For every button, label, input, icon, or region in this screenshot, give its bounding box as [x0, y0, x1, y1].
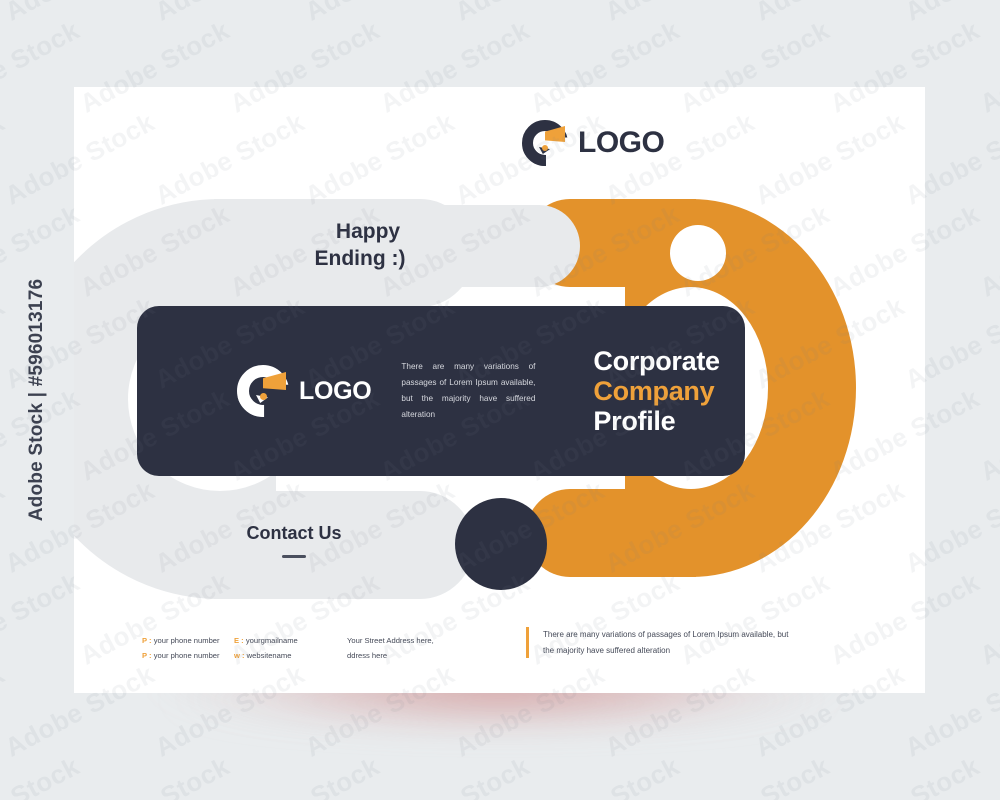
footer-row: P : your phone number — [142, 633, 220, 648]
dark-content-card: LOGO There are many variations of passag… — [137, 306, 745, 476]
adobe-stock-id-text: Adobe Stock | #596013176 — [26, 279, 48, 521]
dark-card-logo-text: LOGO — [299, 377, 371, 406]
header-logo-text: LOGO — [578, 126, 664, 160]
contact-us-heading: Contact Us — [226, 523, 362, 544]
watermark-text: Adobe Stock — [750, 0, 910, 27]
footer-address-column: Your Street Address here, ddress here — [347, 633, 434, 663]
happy-ending-pill: Happy Ending :) — [220, 205, 580, 287]
watermark-text: Adobe Stock — [150, 0, 310, 27]
happy-ending-line-2: Ending :) — [315, 246, 406, 273]
orange-c-notch-cutout — [670, 225, 726, 281]
footer-address-line-1: Your Street Address here, — [347, 633, 434, 648]
dark-card-logo-lockup[interactable]: LOGO — [237, 365, 371, 417]
watermark-text: Adobe Stock — [975, 383, 1000, 488]
watermark-text: Adobe Stock — [975, 751, 1000, 800]
footer-row: w : websitename — [234, 648, 298, 663]
footer-value: your phone number — [154, 651, 220, 660]
footer-phone-column: P : your phone number P : your phone num… — [142, 633, 220, 663]
contact-us-underline — [282, 555, 306, 558]
title-line-company: Company — [593, 376, 719, 406]
footer-address-line-2: ddress here — [347, 648, 434, 663]
footer-value: websitename — [247, 651, 292, 660]
happy-ending-line-1: Happy — [320, 219, 400, 246]
footer-value: yourgmailname — [246, 636, 298, 645]
header-logo-lockup[interactable]: LOGO — [522, 120, 664, 166]
footer-row: E : yourgmailname — [234, 633, 298, 648]
watermark-text: Adobe Stock — [975, 567, 1000, 672]
title-line-profile: Profile — [593, 406, 719, 436]
circle-c-bird-logo-icon — [522, 120, 568, 166]
watermark-text: Adobe Stock — [975, 199, 1000, 304]
title-line-corporate: Corporate — [593, 346, 719, 376]
footer: P : your phone number P : your phone num… — [74, 607, 925, 693]
dark-decorative-circle — [455, 498, 547, 590]
contact-us-block: Contact Us — [226, 523, 362, 558]
card-drop-shadow-2 — [100, 690, 900, 760]
footer-label: P : — [142, 651, 152, 660]
footer-right-paragraph: There are many variations of passages of… — [526, 627, 796, 658]
footer-label: E : — [234, 636, 244, 645]
footer-label: P : — [142, 636, 152, 645]
watermark-text: Adobe Stock — [600, 0, 760, 27]
dark-card-title-block: Corporate Company Profile — [593, 346, 719, 437]
footer-email-web-column: E : yourgmailname w : websitename — [234, 633, 298, 663]
footer-row: P : your phone number — [142, 648, 220, 663]
watermark-text: Adobe Stock — [450, 0, 610, 27]
company-profile-cover-card: LOGO Happy Ending :) LOGO There are many… — [74, 87, 925, 693]
circle-c-bird-logo-icon-white — [237, 365, 289, 417]
dark-card-paragraph: There are many variations of passages of… — [401, 359, 535, 423]
footer-label: w : — [234, 651, 245, 660]
watermark-text: Adobe Stock — [900, 0, 1000, 27]
watermark-text: Adobe Stock — [300, 0, 460, 27]
watermark-text: Adobe Stock — [975, 15, 1000, 120]
adobe-stock-id-bar: Adobe Stock | #596013176 — [0, 0, 74, 800]
footer-value: your phone number — [154, 636, 220, 645]
orange-c-arm-bottom — [526, 489, 696, 577]
